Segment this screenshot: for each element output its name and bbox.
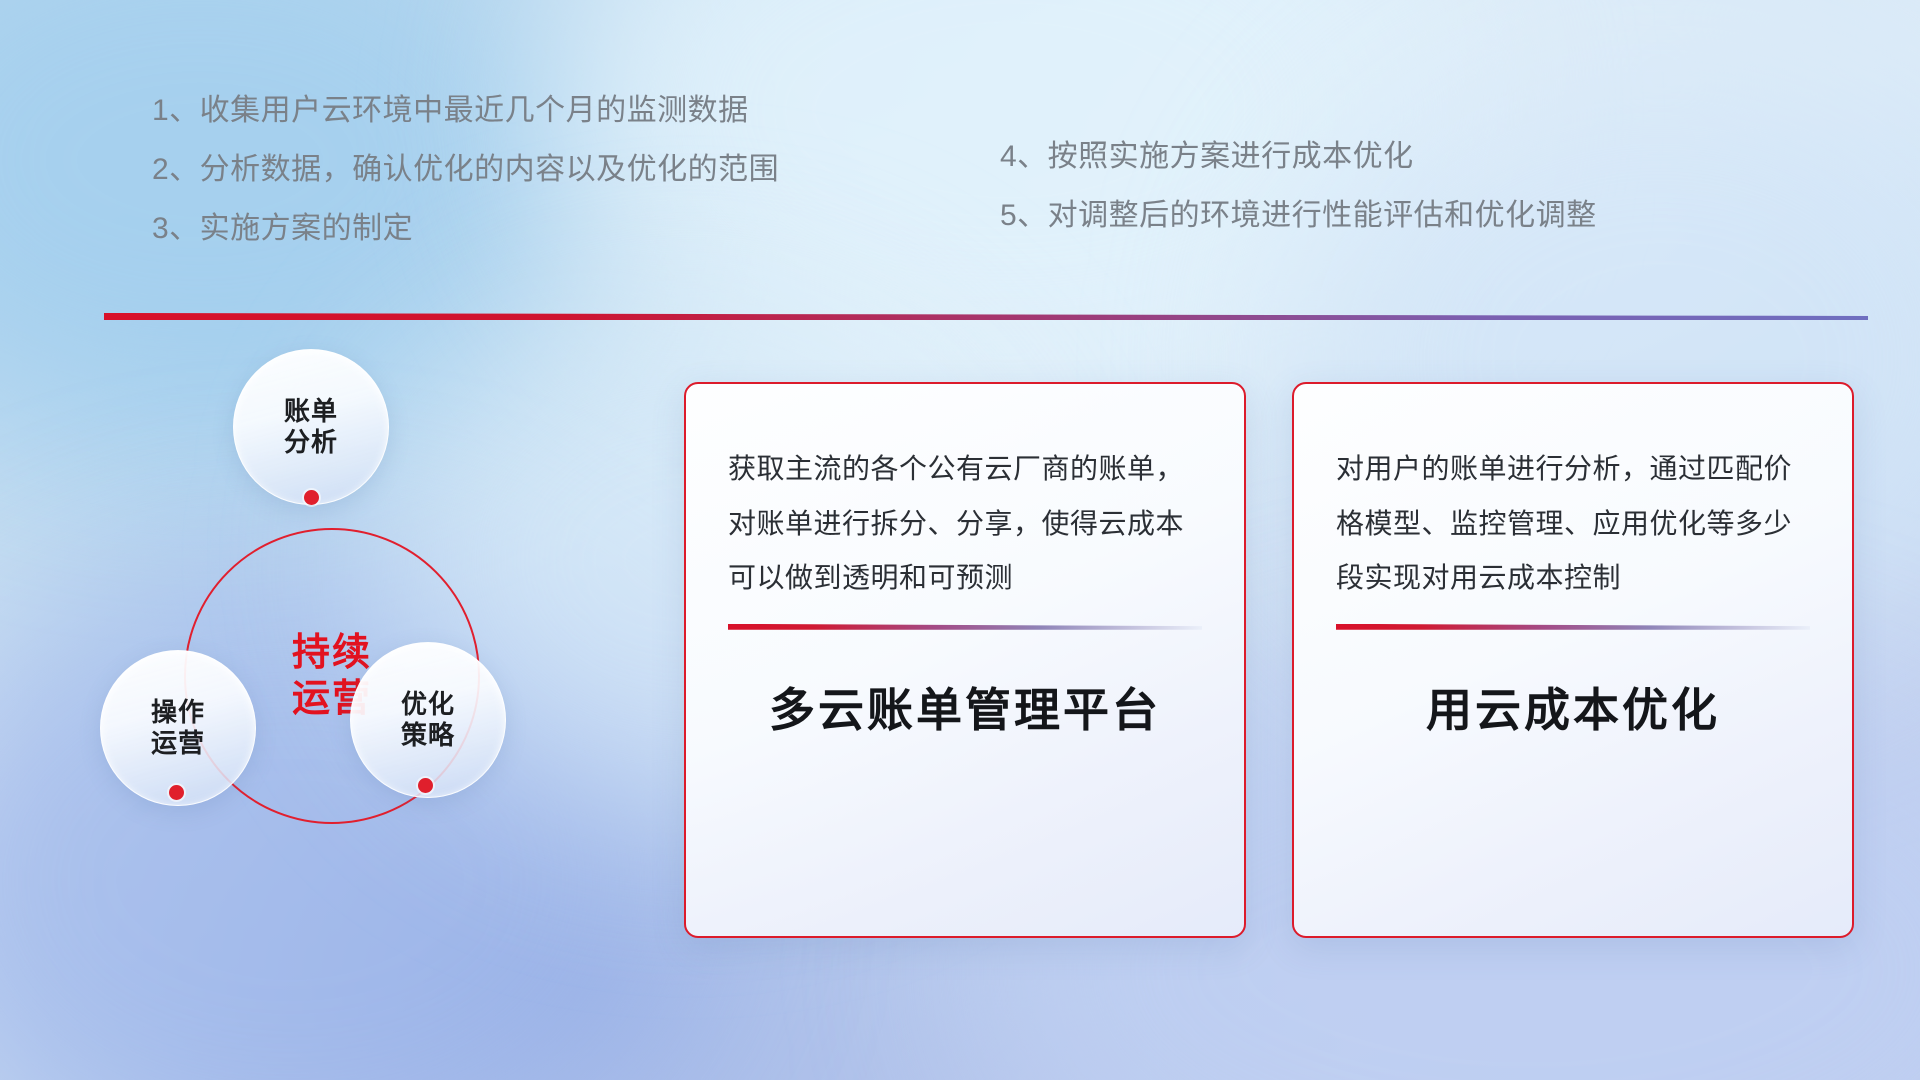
divider-bar [104, 313, 1868, 320]
step-item-5: 5、对调整后的环境进行性能评估和优化调整 [1000, 201, 1597, 231]
venn-bubble-optimization-strategy-line2: 策略 [401, 720, 455, 751]
venn-node-dot-top [304, 490, 319, 505]
section-divider [104, 313, 1868, 321]
card-multicloud-billing-platform-body: 获取主流的各个公有云厂商的账单，对账单进行拆分、分享，使得云成本可以做到透明和可… [728, 442, 1202, 606]
card-cloud-cost-optimization-body: 对用户的账单进行分析，通过匹配价格模型、监控管理、应用优化等多少段实现对用云成本… [1336, 442, 1810, 606]
step-item-2: 2、分析数据，确认优化的内容以及优化的范围 [152, 155, 779, 185]
step-item-4: 4、按照实施方案进行成本优化 [1000, 142, 1597, 172]
card-multicloud-billing-platform-rule [728, 624, 1202, 630]
card-cloud-cost-optimization[interactable]: 对用户的账单进行分析，通过匹配价格模型、监控管理、应用优化等多少段实现对用云成本… [1292, 382, 1854, 938]
card-multicloud-billing-platform-title: 多云账单管理平台 [728, 674, 1202, 740]
venn-bubble-operations-line2: 运营 [151, 728, 205, 759]
venn-bubble-bill-analysis-line2: 分析 [284, 427, 338, 458]
steps-column-left: 1、收集用户云环境中最近几个月的监测数据 2、分析数据，确认优化的内容以及优化的… [152, 96, 779, 273]
venn-bubble-optimization-strategy[interactable]: 优化 策略 [350, 642, 506, 798]
venn-bubble-bill-analysis[interactable]: 账单 分析 [233, 349, 389, 505]
venn-bubble-bill-analysis-line1: 账单 [284, 396, 338, 427]
venn-diagram: 持续 运营 账单 分析 操作 运营 优化 策略 [100, 350, 570, 970]
card-cloud-cost-optimization-title: 用云成本优化 [1336, 674, 1810, 740]
step-item-1: 1、收集用户云环境中最近几个月的监测数据 [152, 96, 779, 126]
card-multicloud-billing-platform[interactable]: 获取主流的各个公有云厂商的账单，对账单进行拆分、分享，使得云成本可以做到透明和可… [684, 382, 1246, 938]
venn-node-dot-right [418, 778, 433, 793]
step-item-3: 3、实施方案的制定 [152, 214, 779, 244]
venn-bubble-optimization-strategy-line1: 优化 [401, 689, 455, 720]
steps-column-right: 4、按照实施方案进行成本优化 5、对调整后的环境进行性能评估和优化调整 [1000, 142, 1597, 260]
venn-node-dot-left [169, 785, 184, 800]
venn-bubble-operations[interactable]: 操作 运营 [100, 650, 256, 806]
card-cloud-cost-optimization-rule [1336, 624, 1810, 630]
steps-section: 1、收集用户云环境中最近几个月的监测数据 2、分析数据，确认优化的内容以及优化的… [0, 96, 1920, 266]
venn-bubble-operations-line1: 操作 [151, 697, 205, 728]
slide-canvas: 1、收集用户云环境中最近几个月的监测数据 2、分析数据，确认优化的内容以及优化的… [0, 0, 1920, 1080]
